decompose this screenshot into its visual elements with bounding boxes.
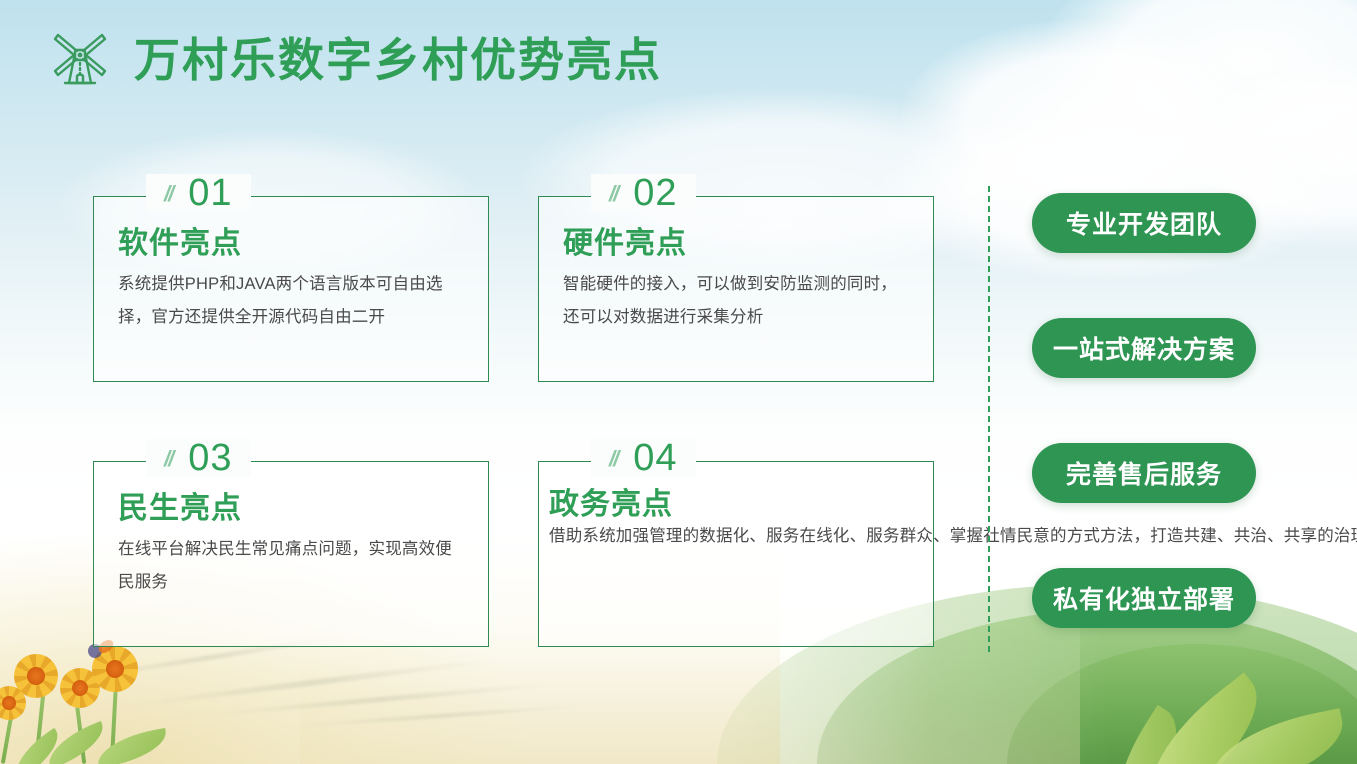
leaf-shape [1126, 672, 1282, 764]
background-field [0, 0, 1357, 764]
flower-core [2, 696, 16, 710]
slash-mark-icon: // [609, 183, 617, 205]
card-number: 03 [188, 439, 232, 477]
page-title: 万村乐数字乡村优势亮点 [134, 37, 662, 83]
flower-petals [0, 686, 26, 720]
background-sky [0, 0, 1357, 764]
flower-petals [60, 668, 100, 708]
leaf-shape [1203, 708, 1352, 764]
highlight-card-03[interactable]: // 03 民生亮点 在线平台解决民生常见痛点问题，实现高效便民服务 [93, 461, 489, 647]
flower-stem [74, 694, 87, 764]
flower-core [72, 680, 88, 696]
field-path-streak [121, 657, 499, 709]
card-heading: 政务亮点 [549, 488, 923, 521]
highlight-card-02[interactable]: // 02 硬件亮点 智能硬件的接入，可以做到安防监测的同时，还可以对数据进行采… [538, 196, 934, 382]
highlight-card-01[interactable]: // 01 软件亮点 系统提供PHP和JAVA两个语言版本可自由选择，官方还提供… [93, 196, 489, 382]
slash-mark-icon: // [609, 448, 617, 470]
card-number-badge: // 03 [146, 439, 251, 477]
flower-leaf [6, 728, 68, 764]
windmill-icon [48, 28, 112, 92]
feature-pill-dev-team[interactable]: 专业开发团队 [1032, 193, 1256, 253]
highlight-card-04[interactable]: // 04 政务亮点 借助系统加强管理的数据化、服务在线化、服务群众、掌握社情民… [538, 461, 934, 647]
card-text: 系统提供PHP和JAVA两个语言版本可自由选择，官方还提供全开源代码自由二开 [118, 268, 466, 334]
slash-mark-icon: // [164, 183, 172, 205]
field-path-streak [290, 704, 590, 729]
card-heading: 软件亮点 [118, 227, 466, 260]
card-number: 01 [188, 174, 232, 212]
card-body: 硬件亮点 智能硬件的接入，可以做到安防监测的同时，还可以对数据进行采集分析 [539, 197, 933, 334]
feature-pill-private-deployment[interactable]: 私有化独立部署 [1032, 568, 1256, 628]
card-number-badge: // 01 [146, 174, 251, 212]
card-number: 04 [633, 439, 677, 477]
slash-mark-icon: // [164, 448, 172, 470]
page-header: 万村乐数字乡村优势亮点 [48, 28, 662, 92]
flower-petals [14, 654, 58, 698]
flower-stem [1, 704, 15, 764]
background-clouds [0, 0, 1357, 764]
background-hills [0, 0, 1357, 764]
card-number-badge: // 02 [591, 174, 696, 212]
flower-core [106, 660, 124, 678]
cloud-shape [900, 20, 1260, 220]
leaf-shape [1094, 705, 1200, 764]
flower-blossom [14, 654, 58, 698]
field-path-streak [200, 681, 559, 717]
hill-near [1007, 644, 1357, 764]
flower-blossom [0, 686, 26, 720]
background-flowers [0, 0, 1357, 764]
card-text: 智能硬件的接入，可以做到安防监测的同时，还可以对数据进行采集分析 [563, 268, 911, 334]
slide-canvas: 万村乐数字乡村优势亮点 // 01 软件亮点 系统提供PHP和JAVA两个语言版… [0, 0, 1357, 764]
flower-blossom [60, 668, 100, 708]
flower-petals [92, 646, 138, 692]
card-text: 在线平台解决民生常见痛点问题，实现高效便民服务 [118, 533, 466, 599]
card-number-badge: // 04 [591, 439, 696, 477]
card-body: 软件亮点 系统提供PHP和JAVA两个语言版本可自由选择，官方还提供全开源代码自… [94, 197, 488, 334]
card-text: 借助系统加强管理的数据化、服务在线化、服务群众、掌握社情民意的方式方法，打造共建… [549, 521, 923, 552]
flower-stem [110, 678, 118, 764]
feature-pill-one-stop-solution[interactable]: 一站式解决方案 [1032, 318, 1256, 378]
cloud-shape [1040, 0, 1357, 180]
card-heading: 民生亮点 [118, 492, 466, 525]
flower-stem [34, 686, 46, 764]
flower-core [27, 667, 45, 685]
flower-leaf [94, 728, 170, 764]
vertical-dashed-divider [988, 186, 990, 652]
card-number: 02 [633, 174, 677, 212]
flower-blossom [92, 646, 138, 692]
card-heading: 硬件亮点 [563, 227, 911, 260]
card-body: 民生亮点 在线平台解决民生常见痛点问题，实现高效便民服务 [94, 462, 488, 599]
flower-leaf [41, 721, 110, 764]
feature-pill-after-sales[interactable]: 完善售后服务 [1032, 443, 1256, 503]
